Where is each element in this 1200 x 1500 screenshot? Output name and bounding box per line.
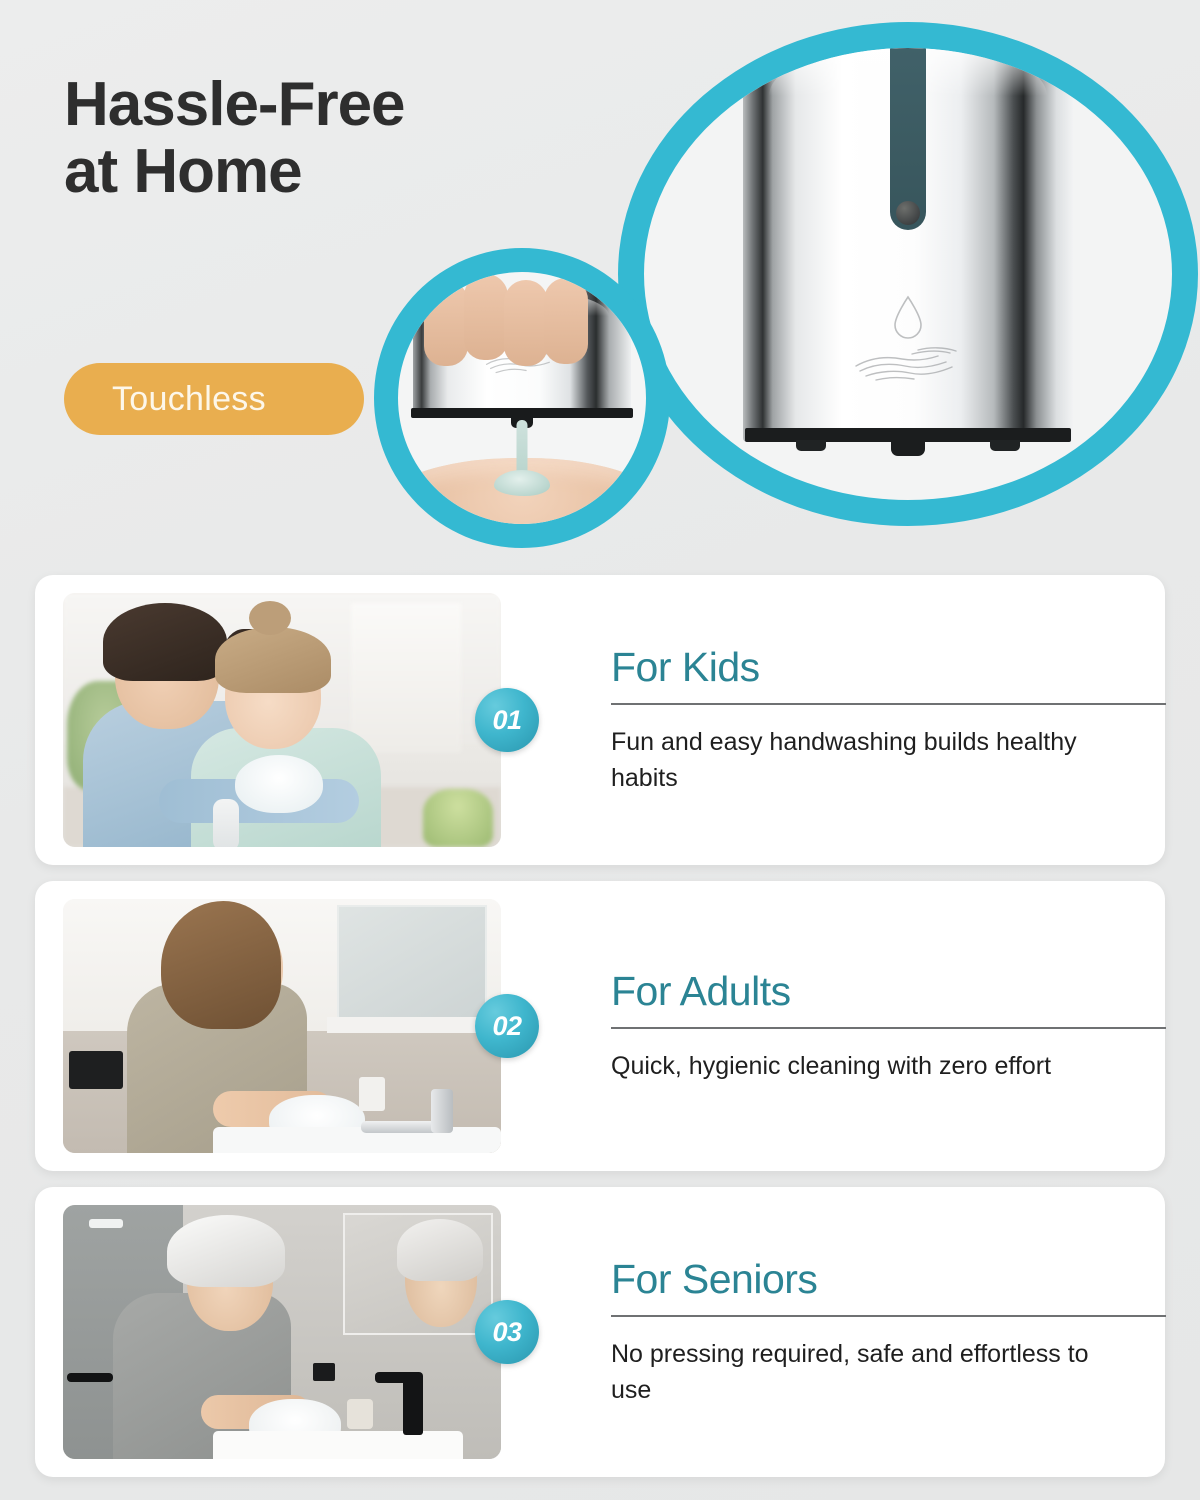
photo-soapy-hands xyxy=(235,755,323,813)
photo-sink xyxy=(213,1127,501,1153)
dispenser-nozzle xyxy=(891,440,925,456)
product-hero-image xyxy=(644,48,1172,500)
hero-section: Hassle-Free at Home Touchless xyxy=(0,0,1200,565)
card-divider xyxy=(611,1027,1166,1029)
benefit-cards: 01 For Kids Fun and easy handwashing bui… xyxy=(0,575,1200,1493)
dispenser-foot-right xyxy=(990,440,1020,451)
card-divider xyxy=(611,1315,1166,1317)
dispenser-foot-left xyxy=(796,440,826,451)
photo-wall-panel xyxy=(69,1051,123,1089)
photo-towel-bar xyxy=(67,1373,113,1382)
photo-soap-bottle xyxy=(347,1399,373,1429)
sensor-strip xyxy=(890,48,926,230)
finger-4 xyxy=(544,278,588,364)
card-description-seniors: No pressing required, safe and effortles… xyxy=(611,1337,1111,1408)
photo-senior-hair xyxy=(167,1215,285,1287)
benefit-card-for-kids[interactable]: 01 For Kids Fun and easy handwashing bui… xyxy=(35,575,1165,865)
card-title-seniors: For Seniors xyxy=(611,1256,1166,1303)
photo-plant-right xyxy=(423,789,493,847)
benefit-card-for-seniors[interactable]: 03 For Seniors No pressing required, saf… xyxy=(35,1187,1165,1477)
soap-blob xyxy=(494,470,550,496)
photo-window xyxy=(351,603,461,753)
card-title-kids: For Kids xyxy=(611,644,1166,691)
card-number-text: 02 xyxy=(492,1011,521,1042)
card-description-adults: Quick, hygienic cleaning with zero effor… xyxy=(611,1049,1111,1085)
photo-adult-hair xyxy=(103,603,227,681)
card-number-badge-03: 03 xyxy=(475,1300,539,1364)
dispensing-inset-circle xyxy=(374,248,670,548)
photo-child-bun xyxy=(249,601,291,635)
photo-faucet-spout xyxy=(375,1372,423,1383)
photo-mirror xyxy=(337,905,487,1021)
benefit-card-for-adults[interactable]: 02 For Adults Quick, hygienic cleaning w… xyxy=(35,881,1165,1171)
photo-mirror-hair xyxy=(397,1219,483,1281)
dispensing-inset-image xyxy=(398,272,646,524)
open-hands-icon xyxy=(852,342,964,386)
product-hero-circle xyxy=(618,22,1198,526)
touchless-badge: Touchless xyxy=(64,363,364,435)
card-description-kids: Fun and easy handwashing builds healthy … xyxy=(611,725,1111,796)
page-title: Hassle-Free at Home xyxy=(64,72,405,206)
card-body-seniors: For Seniors No pressing required, safe a… xyxy=(501,1256,1176,1408)
water-droplet-icon xyxy=(891,294,925,340)
card-body-kids: For Kids Fun and easy handwashing builds… xyxy=(501,644,1176,796)
card-number-text: 03 xyxy=(492,1317,521,1348)
card-title-adults: For Adults xyxy=(611,968,1166,1015)
touchless-badge-label: Touchless xyxy=(112,380,266,419)
card-number-badge-01: 01 xyxy=(475,688,539,752)
photo-ceiling-light xyxy=(89,1219,123,1228)
card-number-badge-02: 02 xyxy=(475,994,539,1058)
photo-faucet-spout xyxy=(361,1121,441,1133)
card-photo-adults xyxy=(63,899,501,1153)
photo-faucet-body xyxy=(403,1375,423,1435)
photo-child-hair xyxy=(215,627,331,693)
photo-light-strip xyxy=(327,1017,497,1033)
photo-sink xyxy=(213,1431,463,1459)
finger-1 xyxy=(424,280,468,366)
photo-cup xyxy=(359,1077,385,1111)
photo-woman-hair xyxy=(161,901,281,1029)
photo-faucet-body xyxy=(431,1089,453,1133)
card-number-text: 01 xyxy=(492,705,521,736)
card-photo-seniors xyxy=(63,1205,501,1459)
card-photo-kids xyxy=(63,593,501,847)
finger-3 xyxy=(504,280,548,366)
photo-wall-switch xyxy=(313,1363,335,1381)
card-divider xyxy=(611,703,1166,705)
card-body-adults: For Adults Quick, hygienic cleaning with… xyxy=(501,968,1176,1085)
finger-2 xyxy=(464,274,508,360)
photo-faucet xyxy=(213,799,239,847)
sensor-eye-icon xyxy=(896,201,920,225)
soap-dispenser-body xyxy=(743,48,1073,442)
